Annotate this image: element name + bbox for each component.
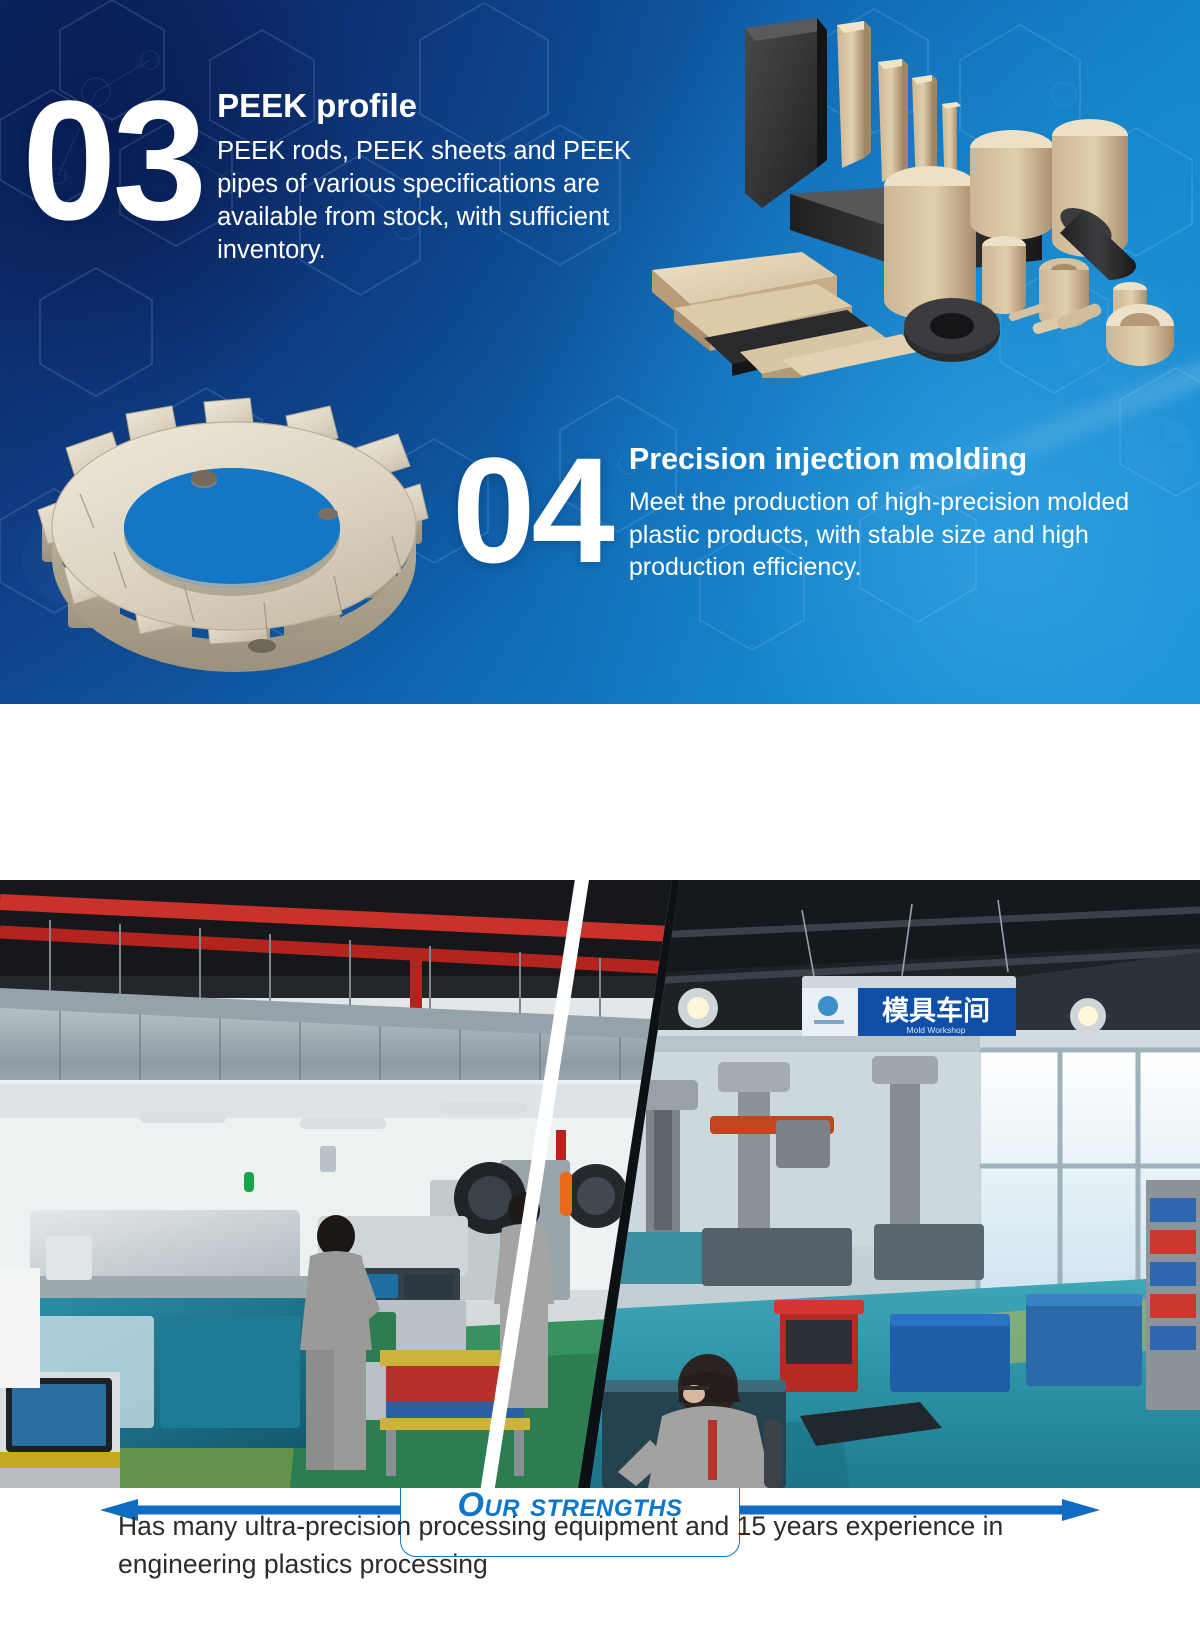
mold-workshop-photo: 模具车间 Mold Workshop	[590, 880, 1200, 1488]
peek-profile-product-image	[612, 8, 1200, 378]
feature-body-04: Meet the production of high-precision mo…	[629, 486, 1192, 584]
feature-number-03: 03	[22, 88, 203, 234]
page-caption: Has many ultra-precision processing equi…	[118, 1508, 1098, 1583]
svg-text:Mold Workshop: Mold Workshop	[907, 1025, 966, 1035]
our-strengths-banner: Our strengths	[0, 704, 1200, 880]
feature-block-03: 03 PEEK profile PEEK rods, PEEK sheets a…	[22, 82, 662, 268]
feature-heading-04: Precision injection molding	[629, 442, 1192, 476]
product-feature-page: 03 PEEK profile PEEK rods, PEEK sheets a…	[0, 0, 1200, 1633]
feature-number-04: 04	[452, 446, 611, 575]
feature-block-04: 04 Precision injection molding Meet the …	[452, 436, 1192, 584]
svg-text:模具车间: 模具车间	[882, 995, 990, 1027]
feature-body-03: PEEK rods, PEEK sheets and PEEK pipes of…	[217, 135, 662, 268]
peek-gear-ring-image	[18, 390, 458, 680]
mold-workshop-sign: 模具车间 Mold Workshop	[802, 976, 1016, 1036]
hero-panel: 03 PEEK profile PEEK rods, PEEK sheets a…	[0, 0, 1200, 704]
factory-photo-strip: 模具车间 Mold Workshop	[0, 880, 1200, 1488]
feature-heading-03: PEEK profile	[217, 88, 662, 125]
